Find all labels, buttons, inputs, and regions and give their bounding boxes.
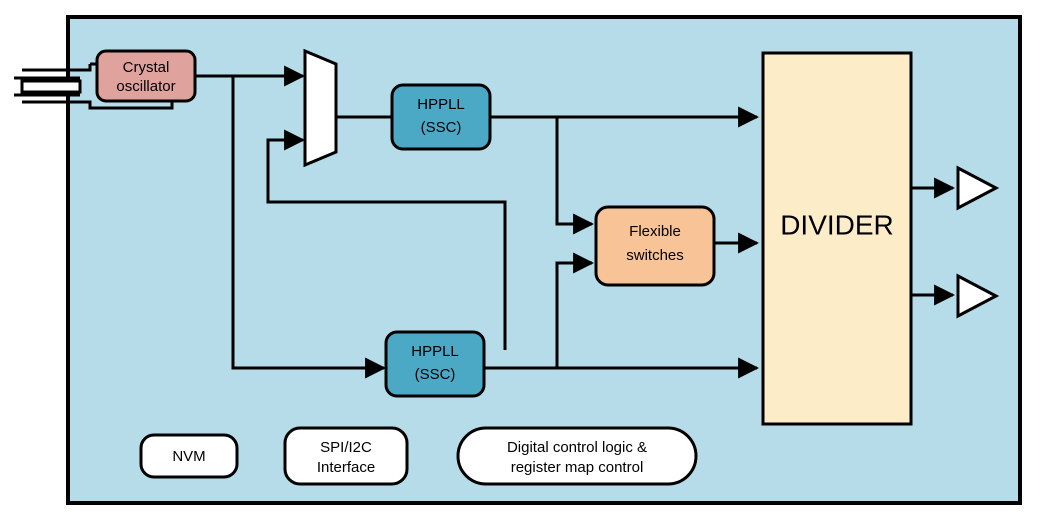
spi-i2c-interface-block[interactable]: SPI/I2C Interface xyxy=(285,428,407,484)
flexible-switches-label-2: switches xyxy=(626,247,684,264)
crystal-oscillator-block[interactable]: Crystal oscillator xyxy=(97,51,195,101)
digital-control-label-2: register map control xyxy=(511,459,644,476)
divider-block[interactable]: DIVIDER xyxy=(763,53,911,424)
flexible-switches-label-1: Flexible xyxy=(629,223,681,240)
divider-label: DIVIDER xyxy=(780,209,894,240)
crystal-oscillator-label-2: oscillator xyxy=(116,78,175,95)
diagram-canvas: Crystal oscillator HPPLL (SSC) xyxy=(0,0,1040,522)
spi-i2c-label-1: SPI/I2C xyxy=(320,439,372,456)
spi-i2c-label-2: Interface xyxy=(317,459,375,476)
hppll-top-block[interactable]: HPPLL (SSC) xyxy=(392,85,490,149)
mux-block[interactable] xyxy=(305,51,336,165)
nvm-label: NVM xyxy=(172,448,205,465)
digital-control-logic-block[interactable]: Digital control logic & register map con… xyxy=(458,428,696,484)
hppll-bottom-label-1: HPPLL xyxy=(411,343,459,360)
hppll-top-label-1: HPPLL xyxy=(417,96,465,113)
flexible-switches-block[interactable]: Flexible switches xyxy=(596,207,714,285)
hppll-top-label-2: (SSC) xyxy=(421,119,462,136)
hppll-bottom-label-2: (SSC) xyxy=(415,366,456,383)
hppll-bottom-block[interactable]: HPPLL (SSC) xyxy=(386,332,484,396)
nvm-block[interactable]: NVM xyxy=(141,435,237,477)
digital-control-label-1: Digital control logic & xyxy=(507,439,647,456)
crystal-oscillator-label-1: Crystal xyxy=(123,59,170,76)
